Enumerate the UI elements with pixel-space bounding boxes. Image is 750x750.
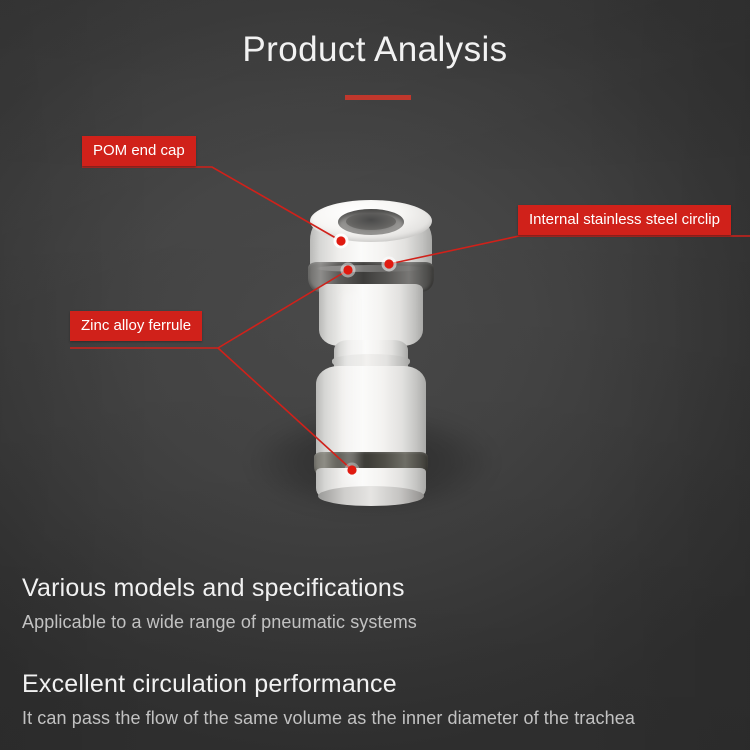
feature-title-models: Various models and specifications [22,572,417,604]
callout-badge-internal-stainless-steel-circlip[interactable]: Internal stainless steel circlip [518,205,731,235]
product-base-face [318,486,424,506]
callout-badge-pom-end-cap[interactable]: POM end cap [82,136,196,166]
feature-subtitle-circulation: It can pass the flow of the same volume … [22,705,635,731]
page-title: Product Analysis [0,28,750,72]
title-underline-rule [345,95,411,100]
product-analysis-infographic: Product Analysis [0,0,750,750]
product-circlip-highlight [316,265,424,272]
product-bore-inner [346,213,396,230]
feature-block-circulation: Excellent circulation performance It can… [22,668,635,731]
product-upper-barrel [319,284,423,346]
feature-title-circulation: Excellent circulation performance [22,668,635,700]
product-lower-barrel [316,366,426,458]
feature-block-models: Various models and specifications Applic… [22,572,417,635]
feature-subtitle-models: Applicable to a wide range of pneumatic … [22,609,417,635]
callout-badge-zinc-alloy-ferrule[interactable]: Zinc alloy ferrule [70,311,202,341]
product-image [296,196,446,504]
